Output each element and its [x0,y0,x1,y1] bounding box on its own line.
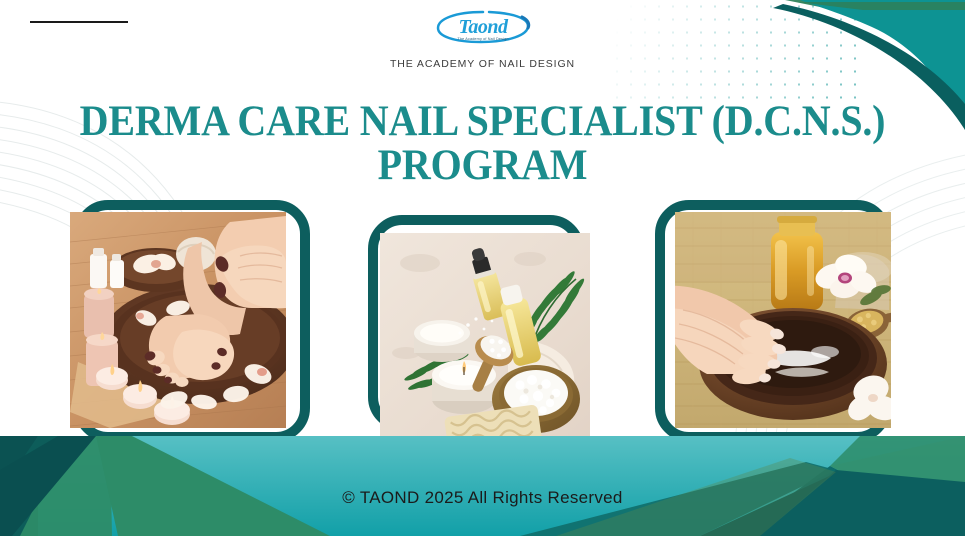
taond-script-logo-icon: Taond The Academy of Nail Design [433,8,533,50]
page-title-line-2: PROGRAM [34,144,931,188]
brand-header: Taond The Academy of Nail Design THE ACA… [0,8,965,70]
svg-text:Taond: Taond [458,16,509,38]
page-title-line-1: DERMA CARE NAIL SPECIALIST (D.C.N.S.) [34,100,931,144]
image-card-2 [368,215,596,443]
spa-flatlay-photo [380,233,590,443]
image-card-3-photo [675,212,891,428]
image-card-3 [655,194,903,442]
page-title: DERMA CARE NAIL SPECIALIST (D.C.N.S.) PR… [34,100,931,188]
image-card-1 [62,194,310,442]
image-card-2-photo [380,233,590,443]
manicure-soak-photo [675,212,891,428]
bottom-band-decoration [0,436,965,536]
slide-canvas: Taond The Academy of Nail Design THE ACA… [0,0,965,536]
image-card-1-photo [70,212,286,428]
pedicure-spa-photo [70,212,286,428]
brand-subtitle: THE ACADEMY OF NAIL DESIGN [0,58,965,70]
svg-text:The Academy of Nail Design: The Academy of Nail Design [457,37,508,41]
footer-copyright: © TAOND 2025 All Rights Reserved [0,488,965,508]
taond-logo: Taond The Academy of Nail Design [433,8,533,50]
